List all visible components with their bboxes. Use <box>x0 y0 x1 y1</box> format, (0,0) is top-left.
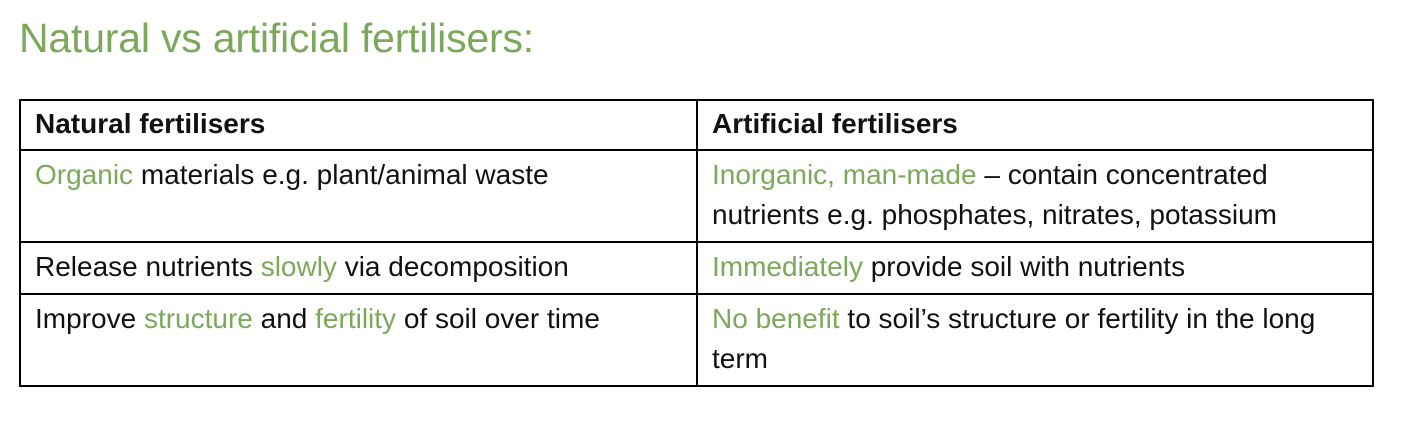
highlight-term: slowly <box>261 251 337 282</box>
table-row: Organic materials e.g. plant/animal wast… <box>20 150 1373 242</box>
cell-text-rest: provide soil with nutrients <box>863 251 1185 282</box>
comparison-table: Natural fertilisers Artificial fertilise… <box>19 99 1374 387</box>
highlight-term: structure <box>144 303 253 334</box>
highlight-term: Immediately <box>712 251 863 282</box>
cell-text-rest: via decomposition <box>337 251 569 282</box>
cell-natural-row1: Organic materials e.g. plant/animal wast… <box>20 150 697 242</box>
cell-artificial-row2: Immediately provide soil with nutrients <box>697 242 1373 294</box>
table-header-row: Natural fertilisers Artificial fertilise… <box>20 100 1373 150</box>
highlight-term: No benefit <box>712 303 840 334</box>
cell-artificial-row1: Inorganic, man-made – contain concentrat… <box>697 150 1373 242</box>
highlight-term: Organic <box>35 159 133 190</box>
cell-natural-row3: Improve structure and fertility of soil … <box>20 294 697 386</box>
cell-text-pre: Improve <box>35 303 144 334</box>
table-body: Organic materials e.g. plant/animal wast… <box>20 150 1373 386</box>
column-header-natural: Natural fertilisers <box>20 100 697 150</box>
page-title: Natural vs artificial fertilisers: <box>19 12 534 64</box>
table-header: Natural fertilisers Artificial fertilise… <box>20 100 1373 150</box>
cell-text-pre: Release nutrients <box>35 251 261 282</box>
cell-text-rest: materials e.g. plant/animal waste <box>133 159 549 190</box>
highlight-term-secondary: fertility <box>315 303 396 334</box>
table-row: Improve structure and fertility of soil … <box>20 294 1373 386</box>
cell-text-mid: and <box>253 303 315 334</box>
comparison-table-container: Natural fertilisers Artificial fertilise… <box>19 99 1372 387</box>
highlight-term: Inorganic, man-made <box>712 159 977 190</box>
column-header-artificial: Artificial fertilisers <box>697 100 1373 150</box>
slide-canvas: Natural vs artificial fertilisers: Natur… <box>0 0 1412 434</box>
cell-artificial-row3: No benefit to soil’s structure or fertil… <box>697 294 1373 386</box>
cell-natural-row2: Release nutrients slowly via decompositi… <box>20 242 697 294</box>
cell-text-rest: of soil over time <box>396 303 600 334</box>
table-row: Release nutrients slowly via decompositi… <box>20 242 1373 294</box>
